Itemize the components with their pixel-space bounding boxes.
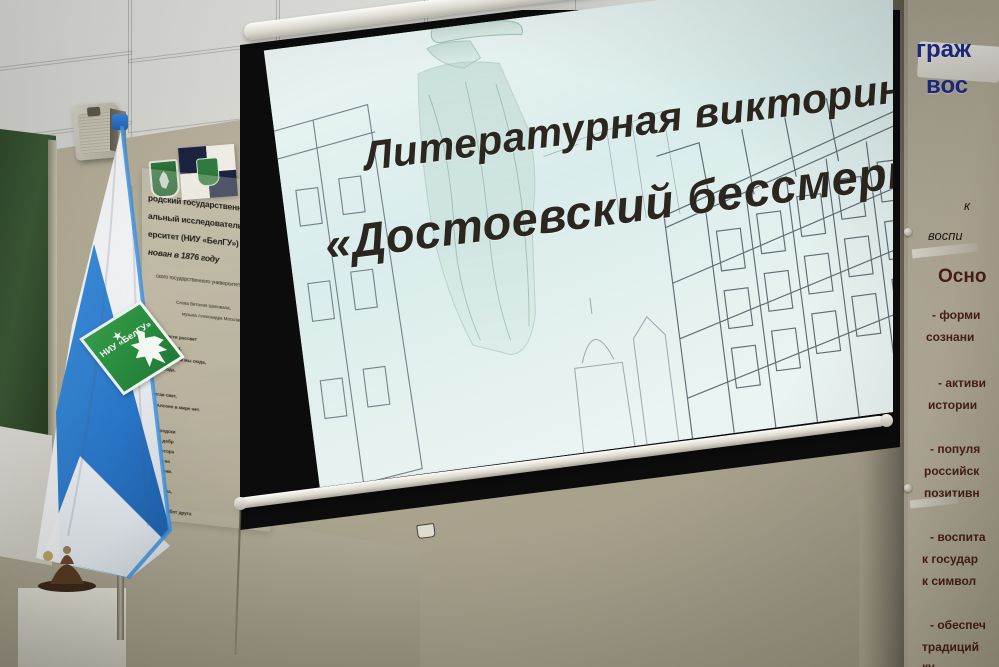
- poster-left-credit-2: музыка Александра Мосьпанова: [182, 311, 249, 323]
- poster-right-bullet-1-b: сознани: [926, 330, 974, 344]
- weight-bar-cap-right: [880, 414, 893, 427]
- flag-stand-base: [36, 540, 98, 592]
- poster-right-heading-1: граж: [916, 36, 971, 64]
- poster-right-italic-1: к: [964, 198, 970, 213]
- poster-right-bullet-4-a: - воспита: [930, 530, 986, 544]
- screen-pull-handle[interactable]: [416, 523, 436, 539]
- presentation-room-photo: родский государственный альный исследова…: [0, 0, 999, 667]
- poster-tape-top: [912, 243, 979, 259]
- poster-right-heading-2: вос: [926, 72, 968, 100]
- poster-right-bullet-5-c: ку: [922, 660, 935, 667]
- flag-pedestal: [18, 588, 126, 667]
- poster-right-bullet-4-b: к государ: [922, 552, 978, 566]
- poster-civic-education: граж вос к воспи Осно - форми сознани - …: [908, 0, 999, 667]
- weight-bar-cap-left: [234, 497, 247, 510]
- poster-right-bullet-1-a: - форми: [932, 308, 980, 322]
- speaker-knob[interactable]: [87, 107, 101, 117]
- poster-right-bullet-2-a: - активи: [938, 376, 986, 390]
- poster-right-bullet-2-b: истории: [928, 398, 977, 412]
- poster-right-bullet-5-a: - обеспеч: [930, 618, 986, 632]
- poster-tape-bottom: [910, 496, 959, 509]
- poster-right-italic-2: воспи: [928, 228, 963, 243]
- poster-screw-top: [904, 228, 912, 236]
- poster-right-bullet-3-b: российск: [924, 464, 979, 478]
- poster-right-bullet-4-c: к символ: [922, 574, 976, 588]
- poster-screw-bottom: [904, 484, 912, 492]
- poster-left-credit-1: Слова Виталия Шаповала,: [176, 300, 231, 311]
- poster-right-bullet-3-a: - популя: [930, 442, 980, 456]
- poster-right-bullet-5-b: традиций: [922, 640, 979, 654]
- poster-right-section-title: Осно: [938, 266, 986, 288]
